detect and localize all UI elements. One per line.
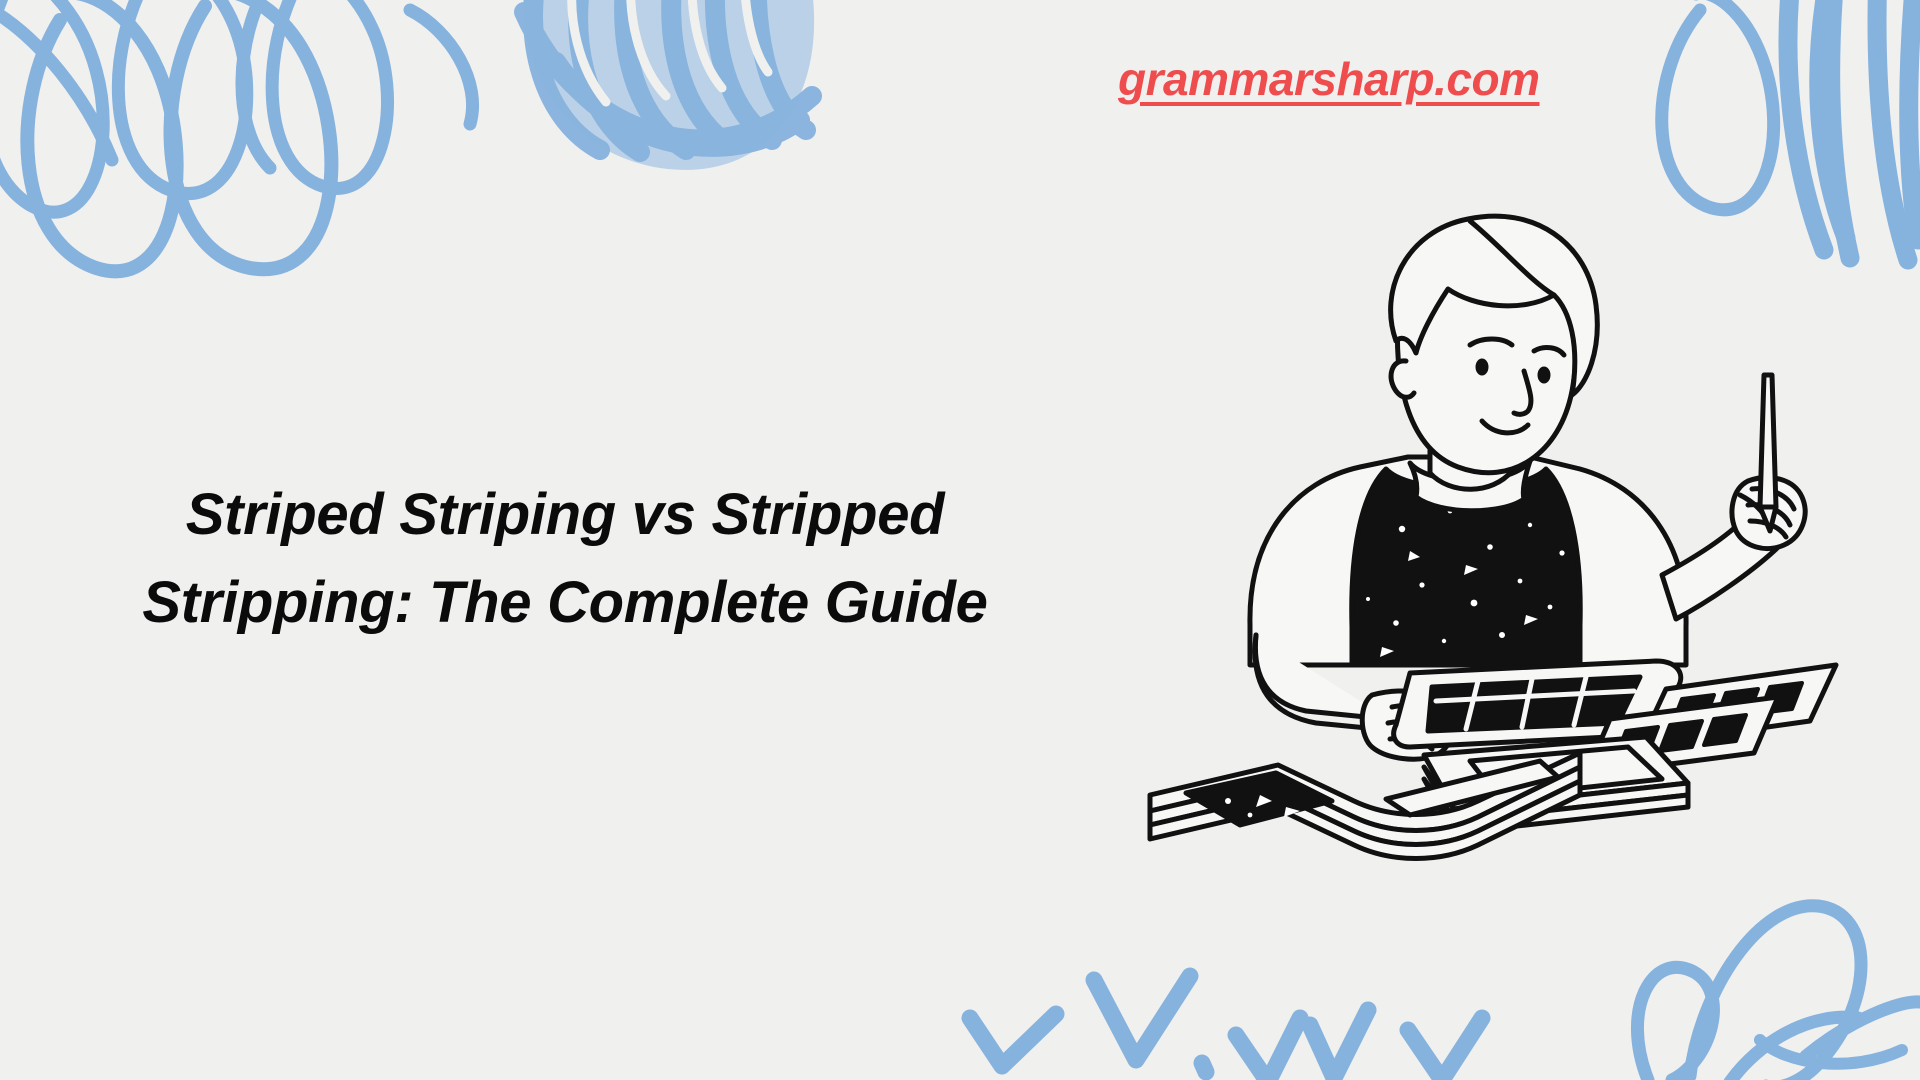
open-photo-album: [1150, 753, 1580, 859]
scribble-highlights: [572, 0, 768, 102]
loop-scribble-top-right-edge: [1662, 0, 1774, 210]
illustration-person-reviewing-photographs: [1110, 195, 1850, 875]
loop-scribble-bottom-right: [1637, 906, 1920, 1080]
page-canvas: grammarsharp.com Striped Striping vs Str…: [0, 0, 1920, 1080]
pencil: [1760, 375, 1776, 531]
checkmarks-bottom-center: [970, 976, 1482, 1080]
loop-scribble-left-cluster: [27, 0, 331, 271]
loop-scribble-bottom-right-lower: [1760, 1040, 1902, 1064]
dense-scribble-top-center: [524, 0, 812, 152]
page-title: Striped Striping vs Stripped Stripping: …: [60, 471, 1070, 647]
site-watermark: grammarsharp.com: [1118, 52, 1540, 106]
scribble-blob-fill: [524, 0, 814, 170]
loop-scribble-top-left: [0, 0, 473, 212]
